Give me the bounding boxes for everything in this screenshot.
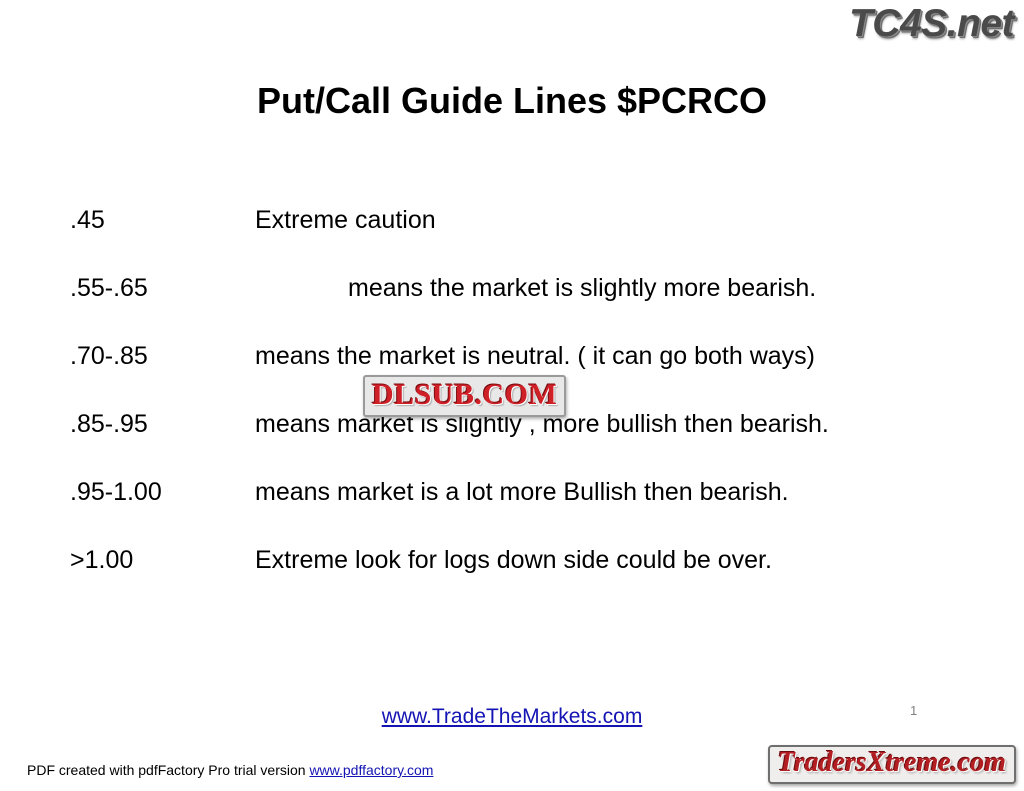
list-item: .95-1.00 means market is a lot more Bull… — [70, 475, 970, 509]
footer-text: PDF created with pdfFactory Pro trial ve… — [27, 762, 309, 778]
tc4s-logo: TC4S.net — [849, 2, 1014, 46]
row-range: .70-.85 — [70, 339, 255, 373]
page-title: Put/Call Guide Lines $PCRCO — [0, 80, 1024, 122]
row-range: .45 — [70, 203, 255, 237]
list-item: .45 Extreme caution — [70, 203, 970, 237]
row-description: means the market is neutral. ( it can go… — [255, 339, 970, 373]
row-range: .85-.95 — [70, 407, 255, 441]
pdffactory-link[interactable]: www.pdffactory.com — [309, 762, 433, 778]
tradethemarkets-link[interactable]: www.TradeTheMarkets.com — [0, 705, 1024, 729]
dlsub-watermark: DLSUB.COM — [363, 375, 566, 417]
list-item: .55-.65 means the market is slightly mor… — [70, 271, 970, 305]
page-number: 1 — [910, 703, 917, 718]
pdffactory-footer: PDF created with pdfFactory Pro trial ve… — [27, 762, 433, 778]
row-range: .55-.65 — [70, 271, 255, 305]
row-description: means market is a lot more Bullish then … — [255, 475, 970, 509]
list-item: .70-.85 means the market is neutral. ( i… — [70, 339, 970, 373]
row-description: Extreme look for logs down side could be… — [255, 543, 970, 577]
row-range: .95-1.00 — [70, 475, 255, 509]
row-range: >1.00 — [70, 543, 255, 577]
list-item: >1.00 Extreme look for logs down side co… — [70, 543, 970, 577]
row-description: Extreme caution — [255, 203, 970, 237]
row-description: means the market is slightly more bearis… — [348, 271, 970, 305]
tradersxtreme-logo: TradersXtreme.com — [768, 745, 1016, 784]
